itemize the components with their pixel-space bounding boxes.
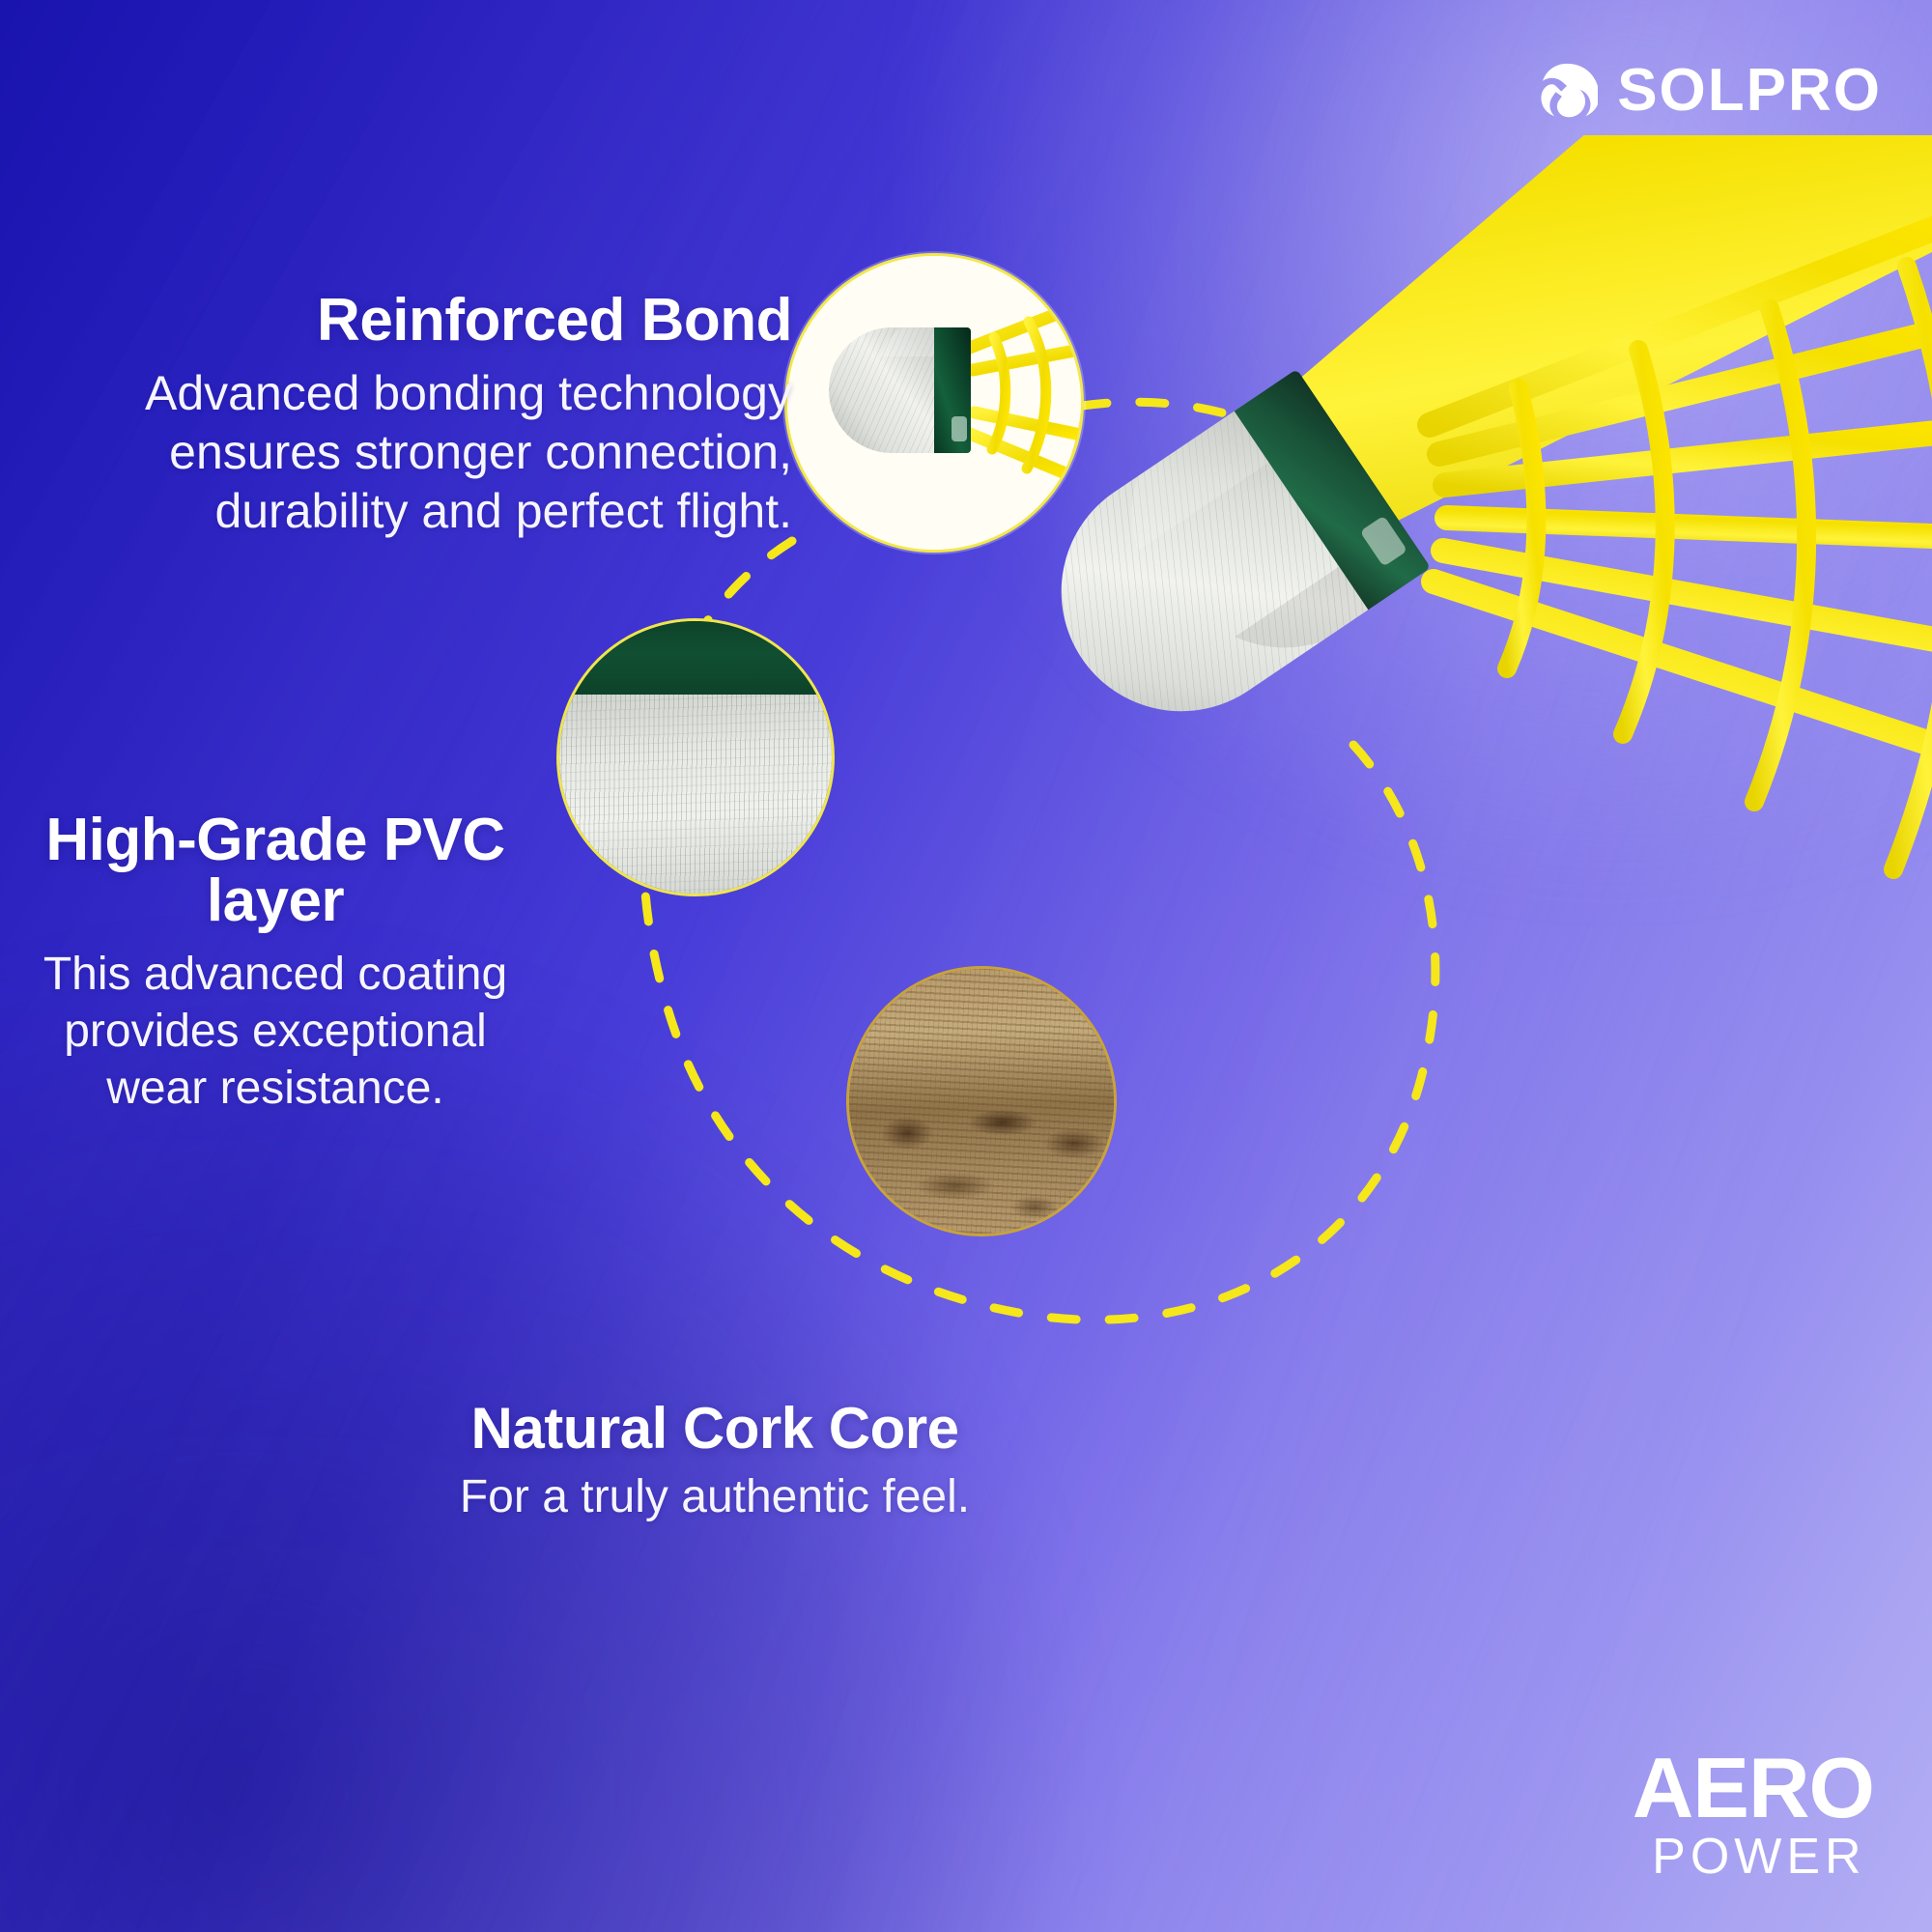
product-lockup-line2: POWER — [1633, 1832, 1874, 1882]
feature-text-cork-core: Natural Cork Core For a truly authentic … — [367, 1399, 1063, 1526]
infographic-canvas: SOLPRO — [0, 0, 1932, 1932]
product-lockup-line1: AERO — [1633, 1749, 1874, 1828]
shuttlecock-hero-image — [927, 135, 1932, 908]
feature-text-reinforced-bond: Reinforced Bond Advanced bonding technol… — [58, 290, 792, 541]
pvc-surface-closeup-icon — [559, 621, 832, 894]
product-lockup-aero-power: AERO POWER — [1633, 1749, 1874, 1882]
feature-title-cork-core: Natural Cork Core — [367, 1399, 1063, 1458]
feature-body-reinforced-bond: Advanced bonding technology ensures stro… — [58, 364, 792, 541]
callout-circle-cork-core — [846, 966, 1117, 1236]
callout-circle-reinforced-bond — [784, 253, 1084, 553]
feature-text-pvc-layer: High-Grade PVC layer This advanced coati… — [10, 810, 541, 1117]
cork-core-closeup-icon — [849, 969, 1114, 1234]
feature-body-cork-core: For a truly authentic feel. — [367, 1469, 1063, 1526]
feature-title-pvc-layer: High-Grade PVC layer — [10, 810, 541, 931]
shuttlecock-joint-closeup-icon — [787, 256, 1081, 550]
feature-body-pvc-layer: This advanced coating provides exception… — [10, 947, 541, 1117]
feature-title-reinforced-bond: Reinforced Bond — [58, 290, 792, 351]
callout-circle-pvc-layer — [556, 618, 835, 896]
